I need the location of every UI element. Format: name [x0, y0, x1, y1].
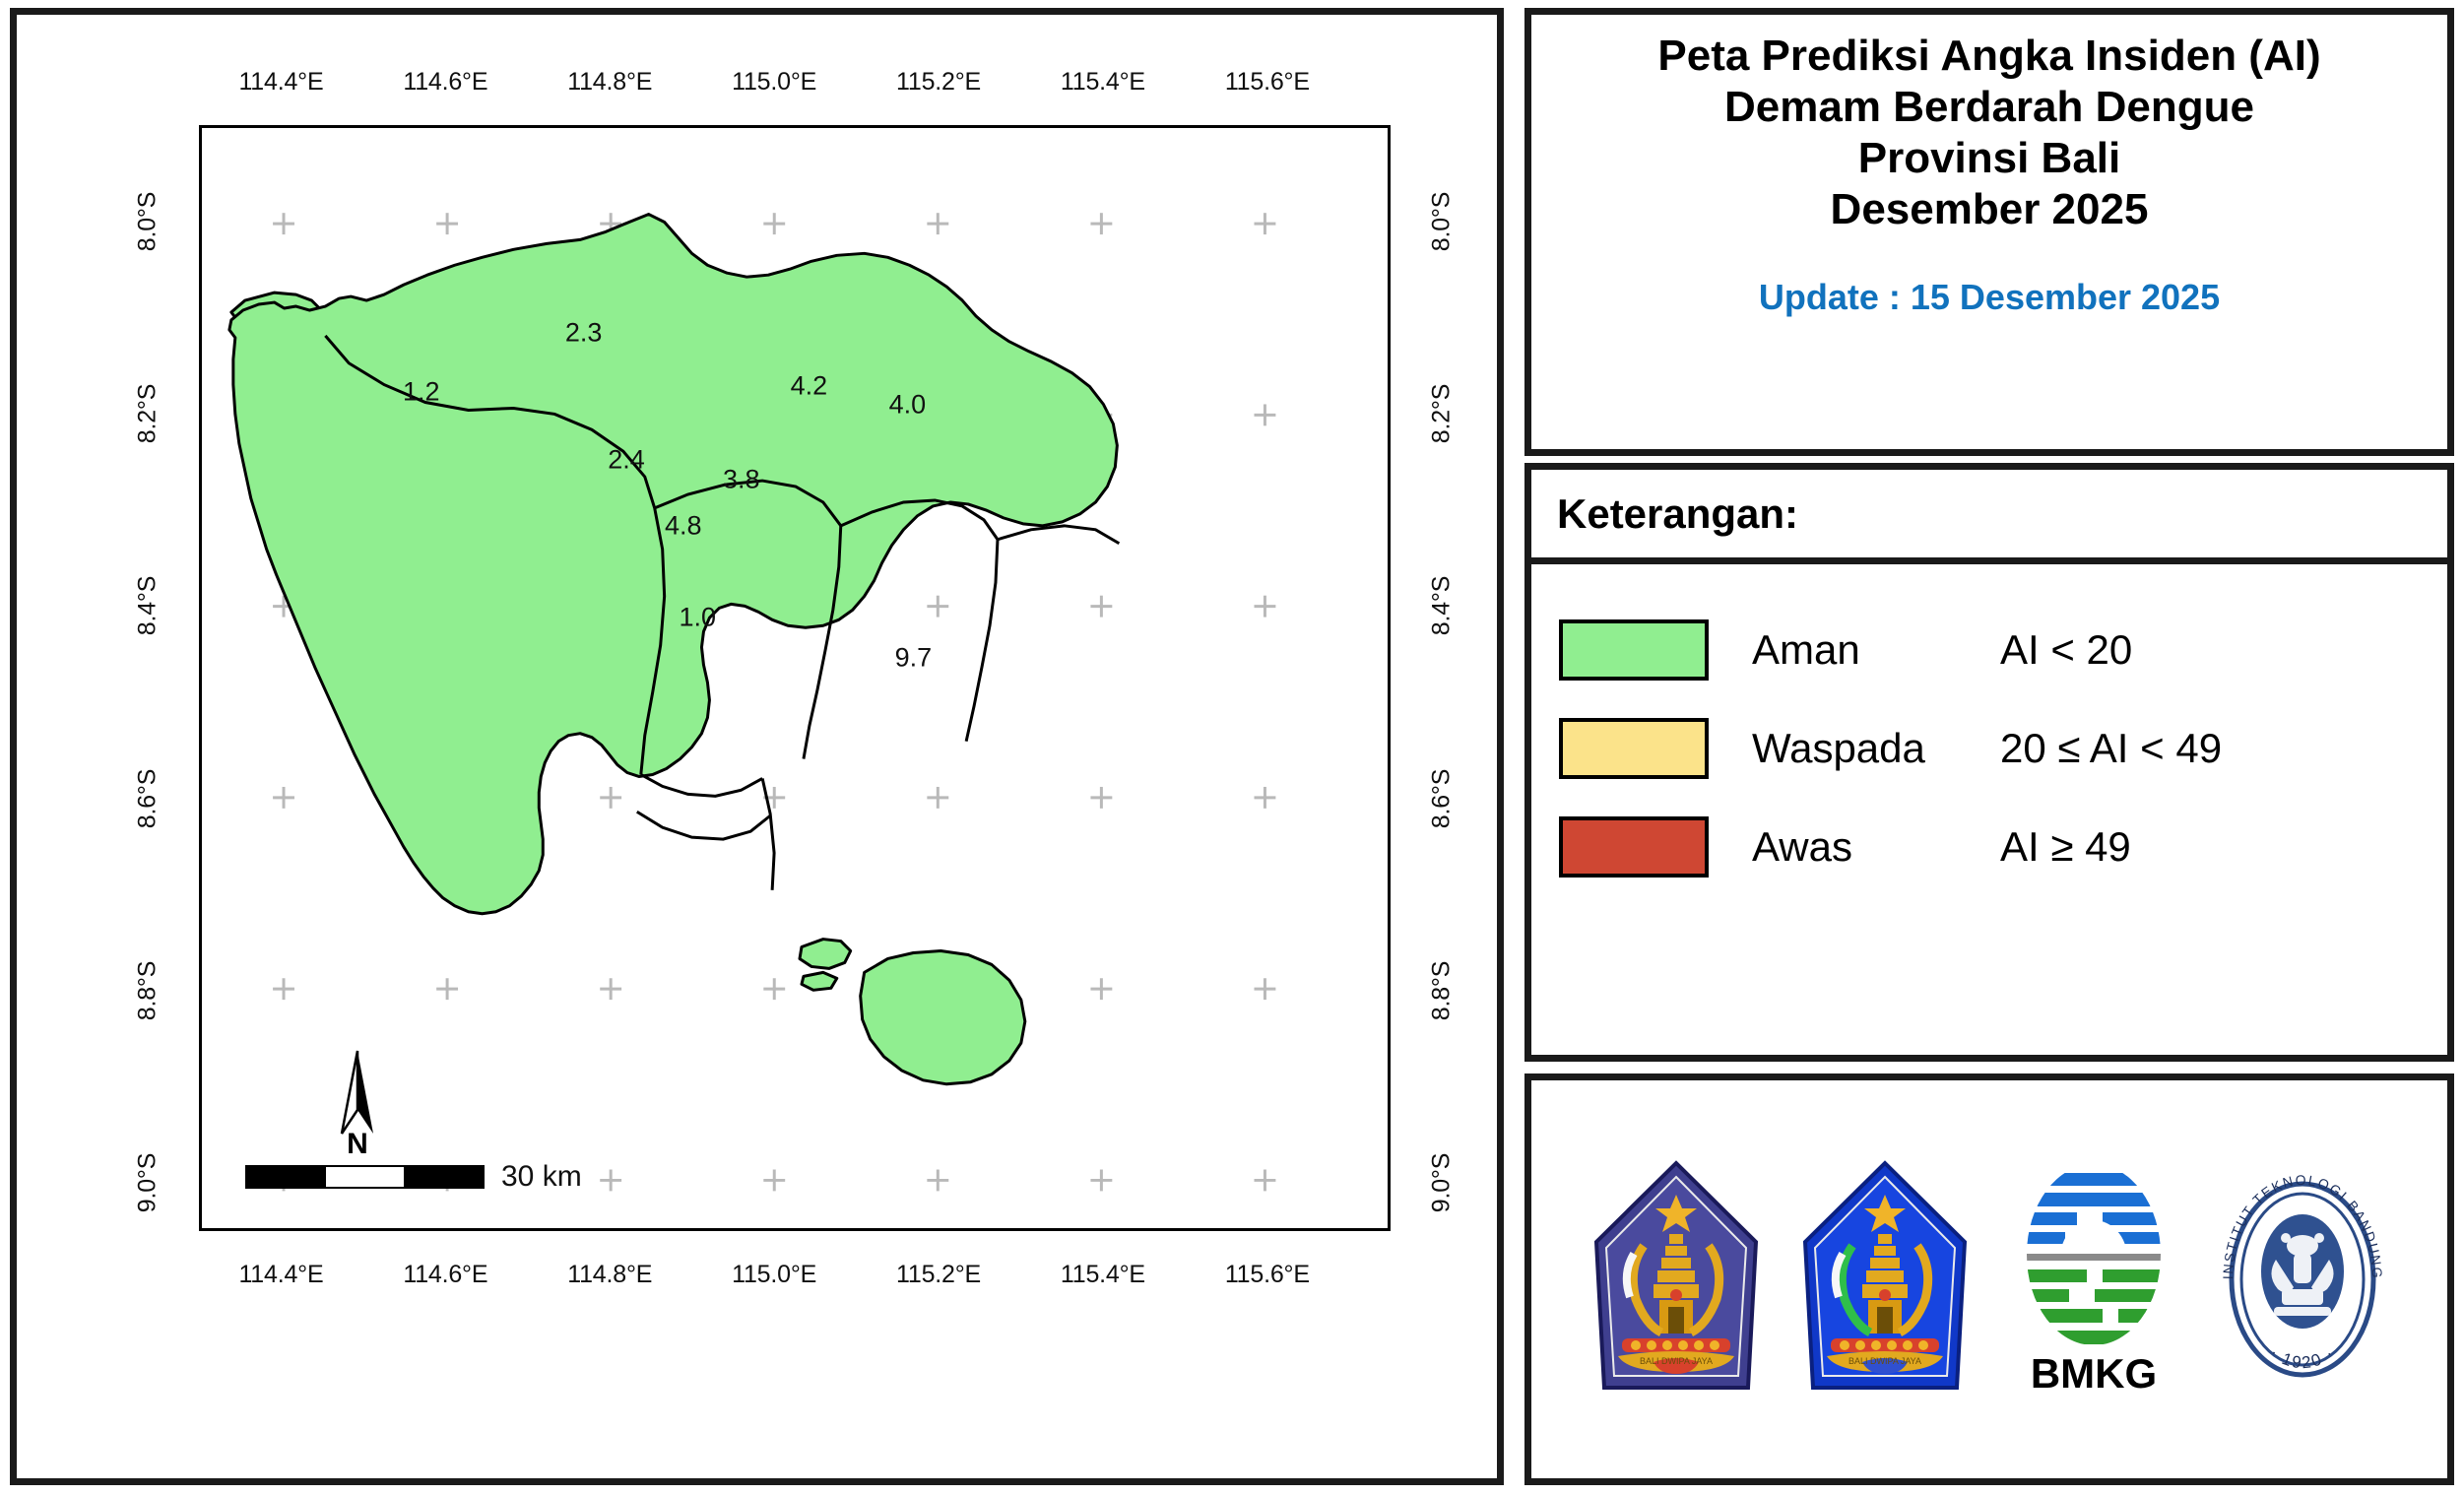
graticule-cross: [927, 213, 948, 234]
legend-class-label: Awas: [1752, 823, 2000, 871]
x-axis-label: 115.2°E: [896, 68, 981, 97]
north-arrow: N: [330, 1049, 385, 1157]
nusa-lembongan-island: [800, 940, 851, 969]
y-axis-label: 8.8°S: [1428, 961, 1457, 1020]
x-axis-label: 114.8°E: [567, 68, 652, 97]
graticule-cross: [1090, 978, 1112, 1000]
graticule-cross: [763, 213, 785, 234]
graticule-cross: [273, 213, 294, 234]
svg-text:BMKG: BMKG: [2031, 1350, 2157, 1397]
y-axis-label: 8.2°S: [134, 384, 162, 443]
region-ai-value: 1.0: [679, 603, 716, 633]
nusa-ceningan-island: [802, 972, 837, 990]
y-axis-label: 8.8°S: [134, 961, 162, 1020]
region-ai-value: 4.0: [889, 390, 927, 421]
title-card: Peta Prediksi Angka Insiden (AI) Demam B…: [1524, 8, 2454, 456]
graticule-cross: [763, 1169, 785, 1191]
region-ai-value: 1.2: [403, 377, 440, 408]
x-axis-label: 115.4°E: [1061, 68, 1145, 97]
graticule-cross: [273, 787, 294, 809]
svg-text:BALI DWIPA JAYA: BALI DWIPA JAYA: [1848, 1356, 1921, 1366]
graticule-cross: [1255, 596, 1276, 618]
legend-class-range: 20 ≤ AI < 49: [2000, 725, 2222, 772]
svg-text:BALI DWIPA JAYA: BALI DWIPA JAYA: [1640, 1356, 1713, 1366]
region-ai-value: 9.7: [895, 643, 933, 674]
regency-boundary: [641, 774, 762, 796]
y-axis-label: 8.2°S: [1428, 384, 1457, 443]
bali-emblem-icon: BALI DWIPA JAYA: [1791, 1151, 1978, 1407]
legend-header: Keterangan:: [1531, 470, 2447, 564]
scale-bar-label: 30 km: [501, 1160, 582, 1194]
x-axis-label: 114.8°E: [567, 1261, 652, 1289]
map-panel: 114.4°E114.6°E114.8°E115.0°E115.2°E115.4…: [10, 8, 1504, 1485]
y-axis-label: 8.4°S: [1428, 576, 1457, 635]
x-axis-label: 115.6°E: [1225, 1261, 1310, 1289]
graticule-cross: [600, 1169, 621, 1191]
graticule-cross: [1255, 978, 1276, 1000]
north-arrow-label: N: [347, 1128, 368, 1161]
legend-row: Waspada20 ≤ AI < 49: [1531, 718, 2447, 779]
bali-emblem-icon: BALI DWIPA JAYA: [1583, 1151, 1770, 1407]
legend-card: Keterangan: AmanAI < 20Waspada20 ≤ AI < …: [1524, 463, 2454, 1062]
title-line-4: Desember 2025: [1831, 184, 2149, 235]
x-axis-label: 114.6°E: [403, 68, 487, 97]
graticule-cross: [600, 787, 621, 809]
graticule-cross: [1255, 404, 1276, 425]
map-inner: 114.4°E114.6°E114.8°E115.0°E115.2°E115.4…: [17, 15, 1497, 1478]
nusa-penida-island: [861, 951, 1025, 1084]
outer-islands: [800, 940, 1025, 1084]
graticule-cross: [763, 978, 785, 1000]
legend-class-range: AI ≥ 49: [2000, 823, 2131, 871]
graticule-cross: [436, 213, 458, 234]
bali-provincial-emblem-1-logo: BALI DWIPA JAYA: [1583, 1151, 1770, 1407]
region-ai-value: 2.3: [565, 317, 603, 348]
map-poster: 114.4°E114.6°E114.8°E115.0°E115.2°E115.4…: [0, 0, 2464, 1496]
scale-bar-segment: [404, 1167, 483, 1187]
regency-boundary: [966, 540, 998, 742]
title-line-3: Provinsi Bali: [1858, 133, 2121, 184]
graticule-cross: [1255, 213, 1276, 234]
bali-provincial-emblem-2-logo: BALI DWIPA JAYA: [1791, 1151, 1978, 1407]
graticule-cross: [436, 978, 458, 1000]
graticule-cross: [1255, 787, 1276, 809]
region-ai-value: 2.4: [608, 445, 645, 476]
legend-class-range: AI < 20: [2000, 626, 2132, 674]
update-date: Update : 15 Desember 2025: [1759, 277, 2220, 318]
region-ai-value: 4.8: [665, 511, 702, 542]
bmkg-icon: BMKG: [2000, 1151, 2187, 1407]
graticule-cross: [1090, 596, 1112, 618]
info-column: Peta Prediksi Angka Insiden (AI) Demam B…: [1524, 8, 2454, 1485]
legend-row: AmanAI < 20: [1531, 619, 2447, 681]
x-axis-label: 115.6°E: [1225, 68, 1310, 97]
legend-color-swatch: [1559, 619, 1709, 681]
y-axis-label: 8.0°S: [134, 191, 162, 250]
x-axis-label: 114.6°E: [403, 1261, 487, 1289]
y-axis-label: 9.0°S: [1428, 1153, 1457, 1212]
itb-logo: INSTITUT TEKNOLOGI BANDUNG · 1920 ·: [2209, 1151, 2396, 1407]
graticule-cross: [273, 978, 294, 1000]
legend-color-swatch: [1559, 816, 1709, 878]
legend-header-label: Keterangan:: [1557, 490, 1798, 538]
legend-class-label: Aman: [1752, 626, 2000, 674]
bmkg-logo: BMKG: [2000, 1151, 2187, 1407]
scale-bar: [245, 1165, 485, 1189]
y-axis-label: 8.0°S: [1428, 191, 1457, 250]
graticule-cross: [927, 787, 948, 809]
legend-body: AmanAI < 20Waspada20 ≤ AI < 49AwasAI ≥ 4…: [1531, 564, 2447, 878]
x-axis-label: 115.0°E: [732, 1261, 816, 1289]
y-axis-label: 8.6°S: [1428, 768, 1457, 827]
region-ai-value: 4.2: [791, 371, 828, 402]
x-axis-label: 114.4°E: [238, 1261, 323, 1289]
graticule-cross: [1090, 787, 1112, 809]
graticule-cross: [927, 1169, 948, 1191]
scale-bar-segment: [247, 1167, 326, 1187]
bali-landmass: [229, 215, 1118, 914]
y-axis-label: 8.4°S: [134, 576, 162, 635]
graticule-cross: [600, 978, 621, 1000]
graticule-cross: [1255, 1169, 1276, 1191]
title-line-1: Peta Prediksi Angka Insiden (AI): [1657, 31, 2320, 82]
legend-class-label: Waspada: [1752, 725, 2000, 772]
regency-boundary: [637, 812, 770, 839]
graticule-cross: [927, 596, 948, 618]
x-axis-label: 114.4°E: [238, 68, 323, 97]
legend-row: AwasAI ≥ 49: [1531, 816, 2447, 878]
x-axis-label: 115.0°E: [732, 68, 816, 97]
logo-card: BALI DWIPA JAYA: [1524, 1073, 2454, 1485]
y-axis-label: 8.6°S: [134, 768, 162, 827]
graticule-cross: [1090, 213, 1112, 234]
bali-island-body: [229, 215, 1118, 914]
itb-icon: INSTITUT TEKNOLOGI BANDUNG · 1920 ·: [2209, 1151, 2396, 1407]
region-ai-value: 3.8: [723, 465, 760, 495]
title-line-2: Demam Berdarah Dengue: [1724, 82, 2254, 133]
x-axis-label: 115.2°E: [896, 1261, 981, 1289]
regency-boundary: [998, 526, 1119, 544]
graticule-cross: [1090, 1169, 1112, 1191]
scale-bar-segment: [326, 1167, 405, 1187]
regency-boundary: [762, 778, 774, 889]
legend-color-swatch: [1559, 718, 1709, 779]
y-axis-label: 9.0°S: [134, 1153, 162, 1212]
x-axis-label: 115.4°E: [1061, 1261, 1145, 1289]
